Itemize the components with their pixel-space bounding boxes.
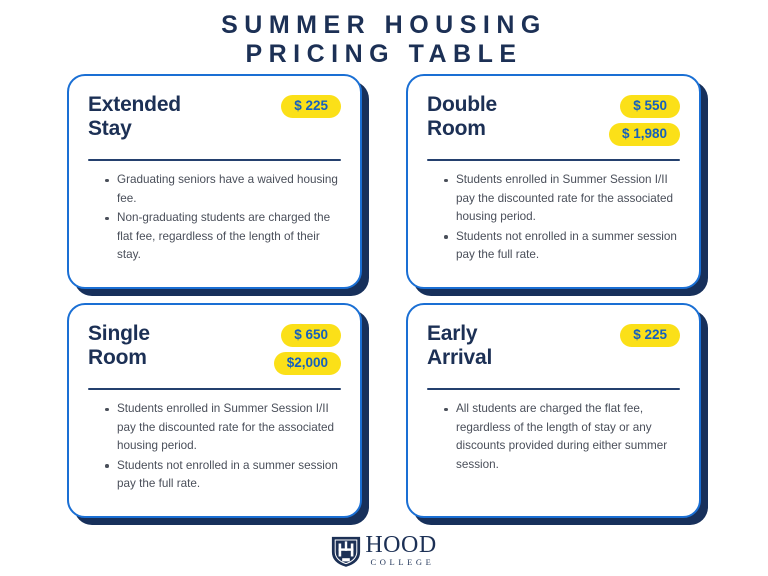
card-bullet-list: Graduating seniors have a waived housing… xyxy=(88,165,341,265)
pricing-card-grid: Extended Stay $ 225 Graduating seniors h… xyxy=(67,74,701,518)
card-bullet-list: Students enrolled in Summer Session I/II… xyxy=(427,165,680,265)
card-body: Extended Stay $ 225 Graduating seniors h… xyxy=(67,74,362,289)
card-divider xyxy=(427,388,680,390)
list-item: All students are charged the flat fee, r… xyxy=(444,400,680,474)
list-item: Students not enrolled in a summer sessio… xyxy=(444,228,680,265)
card-body: Single Room $ 650 $2,000 Students enroll… xyxy=(67,303,362,518)
card-bullet-list: All students are charged the flat fee, r… xyxy=(427,394,680,474)
price-badge: $ 225 xyxy=(620,324,680,347)
price-badge-group: $ 650 $2,000 xyxy=(274,321,341,375)
price-badge-group: $ 225 xyxy=(620,321,680,347)
card-title: Early Arrival xyxy=(427,321,492,370)
price-badge: $ 225 xyxy=(281,95,341,118)
pricing-card-early-arrival: Early Arrival $ 225 All students are cha… xyxy=(406,303,701,518)
page-title-line-1: Summer Housing xyxy=(221,11,547,39)
hood-college-wordmark: HOOD COLLEGE xyxy=(365,534,436,568)
pricing-card-double-room: Double Room $ 550 $ 1,980 Students enrol… xyxy=(406,74,701,289)
price-badge-secondary: $ 1,980 xyxy=(609,123,680,146)
price-badge-group: $ 225 xyxy=(281,92,341,118)
hood-college-logo: HOOD COLLEGE xyxy=(331,534,436,568)
card-divider xyxy=(427,159,680,161)
card-title: Single Room xyxy=(88,321,150,370)
price-badge: $ 650 xyxy=(281,324,341,347)
page-title-line-2: Pricing Table xyxy=(0,40,768,69)
list-item: Students enrolled in Summer Session I/II… xyxy=(105,400,341,456)
price-badge: $ 550 xyxy=(620,95,680,118)
card-divider xyxy=(88,159,341,161)
list-item: Graduating seniors have a waived housing… xyxy=(105,171,341,208)
hood-shield-icon xyxy=(331,535,361,567)
footer: HOOD COLLEGE xyxy=(0,534,768,568)
card-body: Double Room $ 550 $ 1,980 Students enrol… xyxy=(406,74,701,289)
list-item: Students not enrolled in a summer sessio… xyxy=(105,457,341,494)
price-badge-secondary: $2,000 xyxy=(274,352,341,375)
card-header: Early Arrival $ 225 xyxy=(427,321,680,379)
logo-name: HOOD xyxy=(365,534,436,557)
card-body: Early Arrival $ 225 All students are cha… xyxy=(406,303,701,518)
logo-subname: COLLEGE xyxy=(368,557,435,568)
list-item: Students enrolled in Summer Session I/II… xyxy=(444,171,680,227)
card-header: Single Room $ 650 $2,000 xyxy=(88,321,341,379)
price-badge-group: $ 550 $ 1,980 xyxy=(609,92,680,146)
card-title: Double Room xyxy=(427,92,497,141)
card-bullet-list: Students enrolled in Summer Session I/II… xyxy=(88,394,341,494)
page-title: Summer Housing Pricing Table xyxy=(0,0,768,69)
card-header: Extended Stay $ 225 xyxy=(88,92,341,150)
card-divider xyxy=(88,388,341,390)
card-header: Double Room $ 550 $ 1,980 xyxy=(427,92,680,150)
card-title: Extended Stay xyxy=(88,92,181,141)
list-item: Non-graduating students are charged the … xyxy=(105,209,341,265)
pricing-card-extended-stay: Extended Stay $ 225 Graduating seniors h… xyxy=(67,74,362,289)
pricing-card-single-room: Single Room $ 650 $2,000 Students enroll… xyxy=(67,303,362,518)
